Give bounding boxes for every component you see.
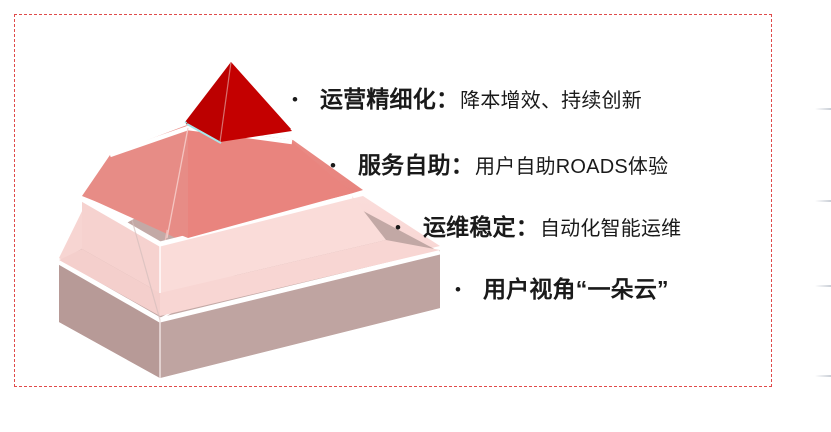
slide-canvas: • 运营精细化： 降本增效、持续创新 • 服务自助： 用户自助ROADS体验 •…	[0, 0, 831, 432]
bullet-marker-icon: •	[330, 157, 336, 174]
bullet-item-4[interactable]: • 用户视角“一朵云”	[455, 270, 670, 304]
edge-tick-4	[815, 375, 831, 377]
bullet-marker-icon: •	[292, 91, 298, 108]
bullet-marker-icon: •	[395, 219, 401, 236]
edge-tick-2	[815, 200, 831, 202]
edge-tick-1	[815, 108, 831, 110]
bullet-marker-icon: •	[455, 281, 461, 298]
bullet-heading-3: 运维稳定：	[423, 208, 539, 242]
bullet-item-1[interactable]: • 运营精细化： 降本增效、持续创新	[292, 80, 642, 114]
bullet-heading-2: 服务自助：	[358, 146, 474, 180]
bullet-heading-4: 用户视角“一朵云”	[483, 270, 669, 304]
bullet-body-2: 用户自助ROADS体验	[475, 150, 668, 179]
bullet-heading-1: 运营精细化：	[320, 80, 459, 114]
bullet-list: • 运营精细化： 降本增效、持续创新 • 服务自助： 用户自助ROADS体验 •…	[0, 0, 831, 432]
bullet-body-1: 降本增效、持续创新	[460, 84, 642, 113]
bullet-item-2[interactable]: • 服务自助： 用户自助ROADS体验	[330, 146, 668, 180]
edge-tick-3	[815, 285, 831, 287]
bullet-item-3[interactable]: • 运维稳定： 自动化智能运维	[395, 208, 681, 242]
bullet-body-3: 自动化智能运维	[540, 212, 681, 241]
